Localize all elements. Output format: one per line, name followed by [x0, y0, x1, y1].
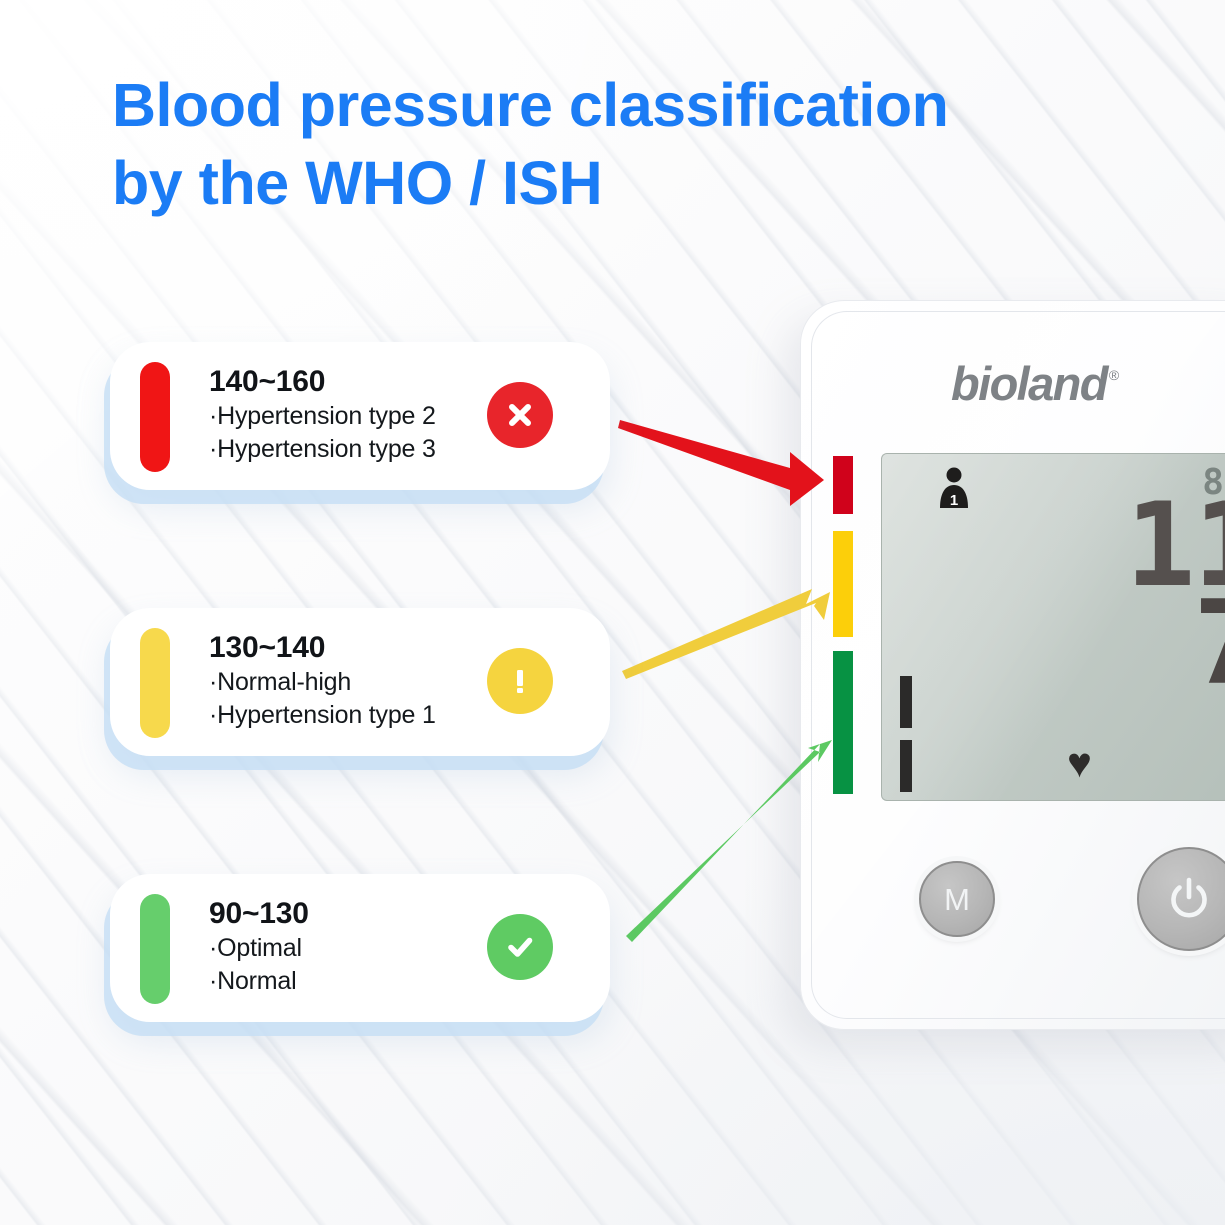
status-badge — [487, 382, 553, 448]
memory-button-label: M — [944, 884, 970, 915]
card-range: 140~160 — [209, 364, 519, 400]
blood-pressure-monitor: bioland® 1 8:30 115 78 mmHg ♥ 78 M — [800, 300, 1225, 1030]
title-line-2: by the WHO / ISH — [112, 144, 1152, 222]
card-text-block: 130~140 ·Normal-high ·Hypertension type … — [209, 630, 519, 732]
card-line-2: ·Hypertension type 1 — [209, 699, 519, 732]
user-icon: 1 — [934, 466, 974, 512]
card-range: 90~130 — [209, 896, 519, 932]
card-text-block: 90~130 ·Optimal ·Normal — [209, 896, 519, 998]
status-badge — [487, 648, 553, 714]
power-icon — [1164, 874, 1214, 924]
classification-card-optimal-normal[interactable]: 90~130 ·Optimal ·Normal — [110, 874, 610, 1022]
power-button[interactable] — [1137, 847, 1225, 951]
registered-mark: ® — [1109, 367, 1118, 383]
infographic-stage: Blood pressure classification by the WHO… — [0, 0, 1225, 1225]
lcd-diastolic: 78 — [1193, 594, 1225, 694]
device-bar-red — [833, 456, 853, 514]
cross-icon — [502, 397, 538, 433]
device-bar-yellow — [833, 531, 853, 637]
card-line-2: ·Hypertension type 3 — [209, 433, 519, 466]
card-color-bar — [140, 362, 170, 472]
red-arrow — [618, 420, 824, 506]
exclamation-icon — [502, 663, 538, 699]
check-icon — [502, 929, 538, 965]
page-title: Blood pressure classification by the WHO… — [112, 66, 1152, 222]
card-text-block: 140~160 ·Hypertension type 2 ·Hypertensi… — [209, 364, 519, 466]
card-line-1: ·Optimal — [209, 932, 519, 965]
yellow-arrow — [622, 589, 830, 679]
brand-logo: bioland® — [951, 356, 1118, 411]
lcd-display: 1 8:30 115 78 mmHg ♥ 78 — [881, 453, 1225, 801]
lcd-indicator-mark-upper — [900, 676, 912, 728]
card-color-bar — [140, 894, 170, 1004]
heart-icon: ♥ — [1067, 742, 1092, 784]
title-line-1: Blood pressure classification — [112, 66, 1152, 144]
card-line-2: ·Normal — [209, 965, 519, 998]
lcd-indicator-mark-lower — [900, 740, 912, 792]
status-badge — [487, 914, 553, 980]
card-line-1: ·Normal-high — [209, 666, 519, 699]
classification-card-hypertension-23[interactable]: 140~160 ·Hypertension type 2 ·Hypertensi… — [110, 342, 610, 490]
user-number: 1 — [950, 492, 958, 509]
card-line-1: ·Hypertension type 2 — [209, 400, 519, 433]
device-bar-green — [833, 651, 853, 794]
brand-name: bioland — [951, 357, 1107, 410]
memory-button[interactable]: M — [919, 861, 995, 937]
card-range: 130~140 — [209, 630, 519, 666]
card-color-bar — [140, 628, 170, 738]
classification-card-normal-high[interactable]: 130~140 ·Normal-high ·Hypertension type … — [110, 608, 610, 756]
